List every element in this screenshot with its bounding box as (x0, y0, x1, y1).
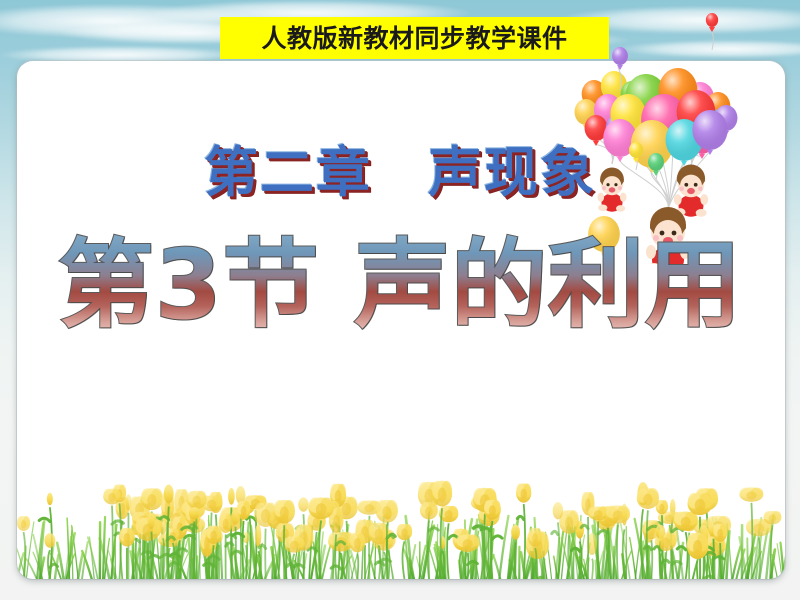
slide-content-panel: xxjxsj.cn (17, 61, 785, 579)
cloud-shape (620, 40, 800, 58)
course-banner-text: 人教版新教材同步教学课件 (261, 26, 567, 51)
course-banner: 人教版新教材同步教学课件 (220, 17, 609, 59)
flower-field-decoration (17, 459, 785, 579)
presentation-slide: xxjxsj.cn 人教版新教材同步教学课件 第二章 声现象 第3节 声的利用 … (0, 0, 800, 600)
